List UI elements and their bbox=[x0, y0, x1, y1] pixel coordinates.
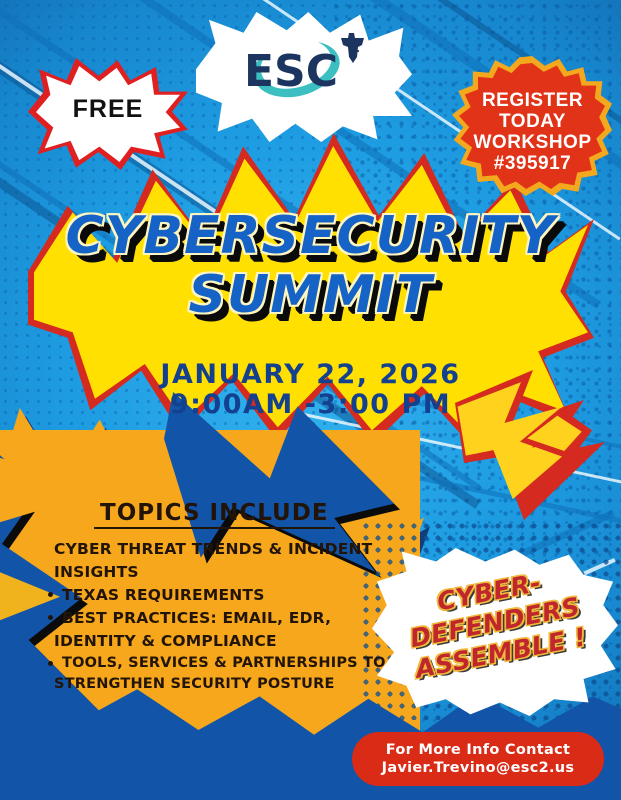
svg-text:2: 2 bbox=[351, 41, 360, 56]
free-badge-label: FREE bbox=[36, 95, 180, 124]
svg-text:ESC: ESC bbox=[244, 46, 338, 97]
register-line-1: REGISTER bbox=[455, 90, 610, 111]
contact-label: For More Info Contact bbox=[386, 741, 570, 759]
topic-item: IDENTITY & COMPLIANCE bbox=[46, 631, 386, 651]
topic-item: INSIGHTS bbox=[46, 562, 386, 582]
event-date: JANUARY 22, 2026 bbox=[0, 360, 621, 390]
event-date-time: JANUARY 22, 2026 9:00AM -3:00 PM bbox=[0, 360, 621, 420]
topic-item: TEXAS REQUIREMENTS bbox=[46, 585, 386, 605]
register-badge-text: REGISTER TODAY WORKSHOP #395917 bbox=[455, 90, 610, 174]
topics-heading: TOPICS INCLUDE bbox=[94, 500, 335, 529]
topic-item: BEST PRACTICES: EMAIL, EDR, bbox=[46, 608, 386, 628]
topics-section: TOPICS INCLUDE CYBER THREAT TRENDS & INC… bbox=[46, 500, 386, 696]
register-workshop-number: #395917 bbox=[455, 153, 610, 174]
poster-title: CYBERSECURITY SUMMIT bbox=[0, 208, 621, 326]
title-line-1: CYBERSECURITY bbox=[0, 208, 621, 264]
contact-email[interactable]: Javier.Trevino@esc2.us bbox=[382, 759, 575, 777]
register-line-2: TODAY bbox=[455, 111, 610, 132]
esc-logo: ESC 2 bbox=[238, 32, 374, 104]
contact-banner[interactable]: For More Info Contact Javier.Trevino@esc… bbox=[352, 732, 604, 786]
title-line-2: SUMMIT bbox=[0, 264, 621, 326]
topics-list: CYBER THREAT TRENDS & INCIDENT INSIGHTS … bbox=[46, 539, 386, 693]
cybersecurity-summit-flyer: FREE REGISTER TODAY WORKSHOP #395917 ESC… bbox=[0, 0, 621, 800]
topic-item: TOOLS, SERVICES & PARTNERSHIPS TO bbox=[46, 654, 386, 672]
register-line-3: WORKSHOP bbox=[455, 132, 610, 153]
topic-item: CYBER THREAT TRENDS & INCIDENT bbox=[46, 539, 386, 559]
event-time: 9:00AM -3:00 PM bbox=[0, 390, 621, 420]
topic-item: STRENGTHEN SECURITY POSTURE bbox=[46, 675, 386, 693]
